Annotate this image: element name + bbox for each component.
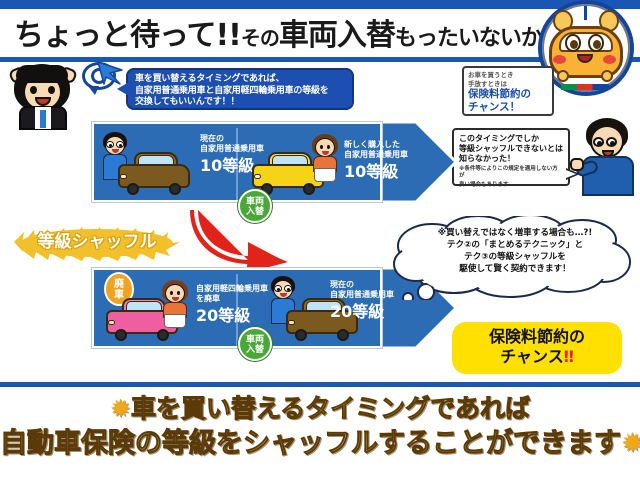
bottom-swap-badge: 車両 入替 <box>238 327 272 361</box>
glasses-left-icon <box>593 137 604 147</box>
banner-line-2: 自動車保険の等級をシャッフルすることができます✹ <box>0 426 640 462</box>
note-small-line-2: 手放すときは <box>468 80 548 89</box>
chance-exclaim: ‼ <box>564 347 574 366</box>
grade-shuffle-label: 等級シャッフル <box>14 222 180 262</box>
poster-canvas: ちょっと待って!!その車両入替もったいないかも? <box>0 0 640 480</box>
banner-line-1-text: 車を買い替えるタイミングであれば <box>131 394 530 423</box>
testimonial-speech-bubble: このタイミングでしか 等級シャッフルできないとは 知らなかった！ ※条件等により… <box>452 128 570 186</box>
glasses-right-icon <box>606 137 617 147</box>
white-bubble-note-2: 良い場合もあります <box>459 182 563 189</box>
bottom-left-small-2: を廃車 <box>196 294 268 304</box>
mascot-cheek-right <box>603 55 616 64</box>
blue-bubble-line-3: 交換してもいいんです！！ <box>135 97 346 109</box>
note-small-line-1: お車を買うとき <box>468 71 548 80</box>
grade-shuffle-badge: 等級シャッフル <box>14 222 180 262</box>
top-right-small-1: 新しく購入した <box>344 140 408 150</box>
bottom-swap-badge-line-1: 車両 <box>240 335 270 345</box>
white-bubble-line-1: このタイミングでしか <box>459 134 563 144</box>
fringe <box>16 65 68 83</box>
mascot-wheel-right <box>601 70 613 82</box>
top-swap-badge-line-1: 車両 <box>240 197 270 207</box>
blue-speech-bubble: 車を買い替えるタイミングであれば、 自家用普通乗用車と自家用軽四輪乗用車の等級を… <box>126 68 354 110</box>
banner-line-2-text: 自動車保険の等級をシャッフルすることができます <box>0 428 621 459</box>
bottom-right-small-2: 自家用普通乗用車 <box>330 290 394 300</box>
bottom-right-small-1: 現在の <box>330 280 394 290</box>
pointing-hand-icon <box>570 158 584 171</box>
mascot-eye-left <box>565 34 581 52</box>
flow-arrow-icon <box>186 210 296 272</box>
bottom-left-person <box>160 280 190 328</box>
white-bubble-line-2: 等級シャッフルできないとは <box>459 144 563 154</box>
bottom-rule <box>0 382 640 387</box>
bottom-left-small-1: 自家用軽四輪乗用車 <box>196 284 268 294</box>
chance-line-2-text: チャンス <box>500 347 564 366</box>
blue-bubble-line-2: 自家用普通乗用車と自家用軽四輪乗用車の等級を <box>135 86 346 98</box>
mascot-eye-right <box>588 34 604 52</box>
cloud-line-1: ※買い替えではなく増車する場合も…?! <box>408 227 622 239</box>
bottom-right-grade: 20等級 <box>330 302 394 322</box>
bottom-left-label: 自家用軽四輪乗用車 を廃車 20等級 <box>196 284 268 326</box>
tips-thought-cloud: ※買い替えではなく増車する場合も…?! テク②の「まとめるテクニック」と テク③… <box>392 216 636 300</box>
star-right-icon: ✹ <box>621 428 640 459</box>
chance-line-1: 保険料節約の <box>452 327 622 347</box>
businessman-left-illustration <box>6 62 80 130</box>
top-right-person <box>310 134 340 182</box>
blue-bubble-line-1: 車を買い替えるタイミングであれば、 <box>135 74 346 86</box>
eye-right <box>48 86 55 94</box>
mascot-antenna <box>584 6 587 20</box>
cloud-text: ※買い替えではなく増車する場合も…?! テク②の「まとめるテクニック」と テク③… <box>408 227 622 275</box>
title-part-3: 車両入替 <box>279 18 395 53</box>
top-left-small-1: 現在の <box>200 134 264 144</box>
white-bubble-line-3: 知らなかった！ <box>459 154 563 164</box>
cloud-line-2: テク②の「まとめるテクニック」と <box>408 239 622 251</box>
mascot-cheek-left <box>553 55 566 64</box>
cloud-line-3: テク③の等級シャッフルを <box>408 251 622 263</box>
banner-line-1: ✹車を買い替えるタイミングであれば <box>0 392 640 426</box>
bottom-banner: ✹車を買い替えるタイミングであれば 自動車保険の等級をシャッフルすることができま… <box>0 392 640 472</box>
bottom-right-label: 現在の 自家用普通乗用車 20等級 <box>330 280 394 322</box>
bottom-left-grade: 20等級 <box>196 306 268 326</box>
businessman-right-illustration <box>578 118 640 196</box>
chance-line-2: チャンス‼ <box>452 347 622 367</box>
bubble-tail-fill <box>566 170 576 178</box>
bottom-swap-badge-line-2: 入替 <box>240 345 270 355</box>
page-title: ちょっと待って!!その車両入替もったいないかも? <box>14 15 534 57</box>
mascot-stripe <box>561 84 609 90</box>
necktie <box>40 110 46 128</box>
top-right-grade: 10等級 <box>344 162 408 182</box>
scrap-badge-line-1: 廃 <box>106 279 132 290</box>
bubble-tail <box>117 82 129 96</box>
savings-chance-box: 保険料節約の チャンス‼ <box>452 322 622 374</box>
note-big-line-1: 保険料節約の <box>468 88 548 101</box>
top-right-small-2: 自家用普通乗用車 <box>344 150 408 160</box>
title-part-2: その <box>241 26 279 50</box>
title-part-1: ちょっと待って!! <box>14 18 241 53</box>
eye-left <box>30 86 37 94</box>
bubble-tail <box>88 86 99 95</box>
star-left-icon: ✹ <box>110 394 131 423</box>
top-right-label: 新しく購入した 自家用普通乗用車 10等級 <box>344 140 408 182</box>
cloud-line-4: 駆使して賢く契約できます！ <box>408 263 622 275</box>
top-left-car <box>118 150 192 196</box>
note-big-line-2: チャンス！ <box>468 101 548 114</box>
savings-note-callout: お車を買うとき 手放すときは 保険料節約の チャンス！ <box>462 66 554 116</box>
white-bubble-note-1: ※条件等によりこの規定を適用しない方が <box>459 166 563 180</box>
mascot-wheel-left <box>557 70 569 82</box>
